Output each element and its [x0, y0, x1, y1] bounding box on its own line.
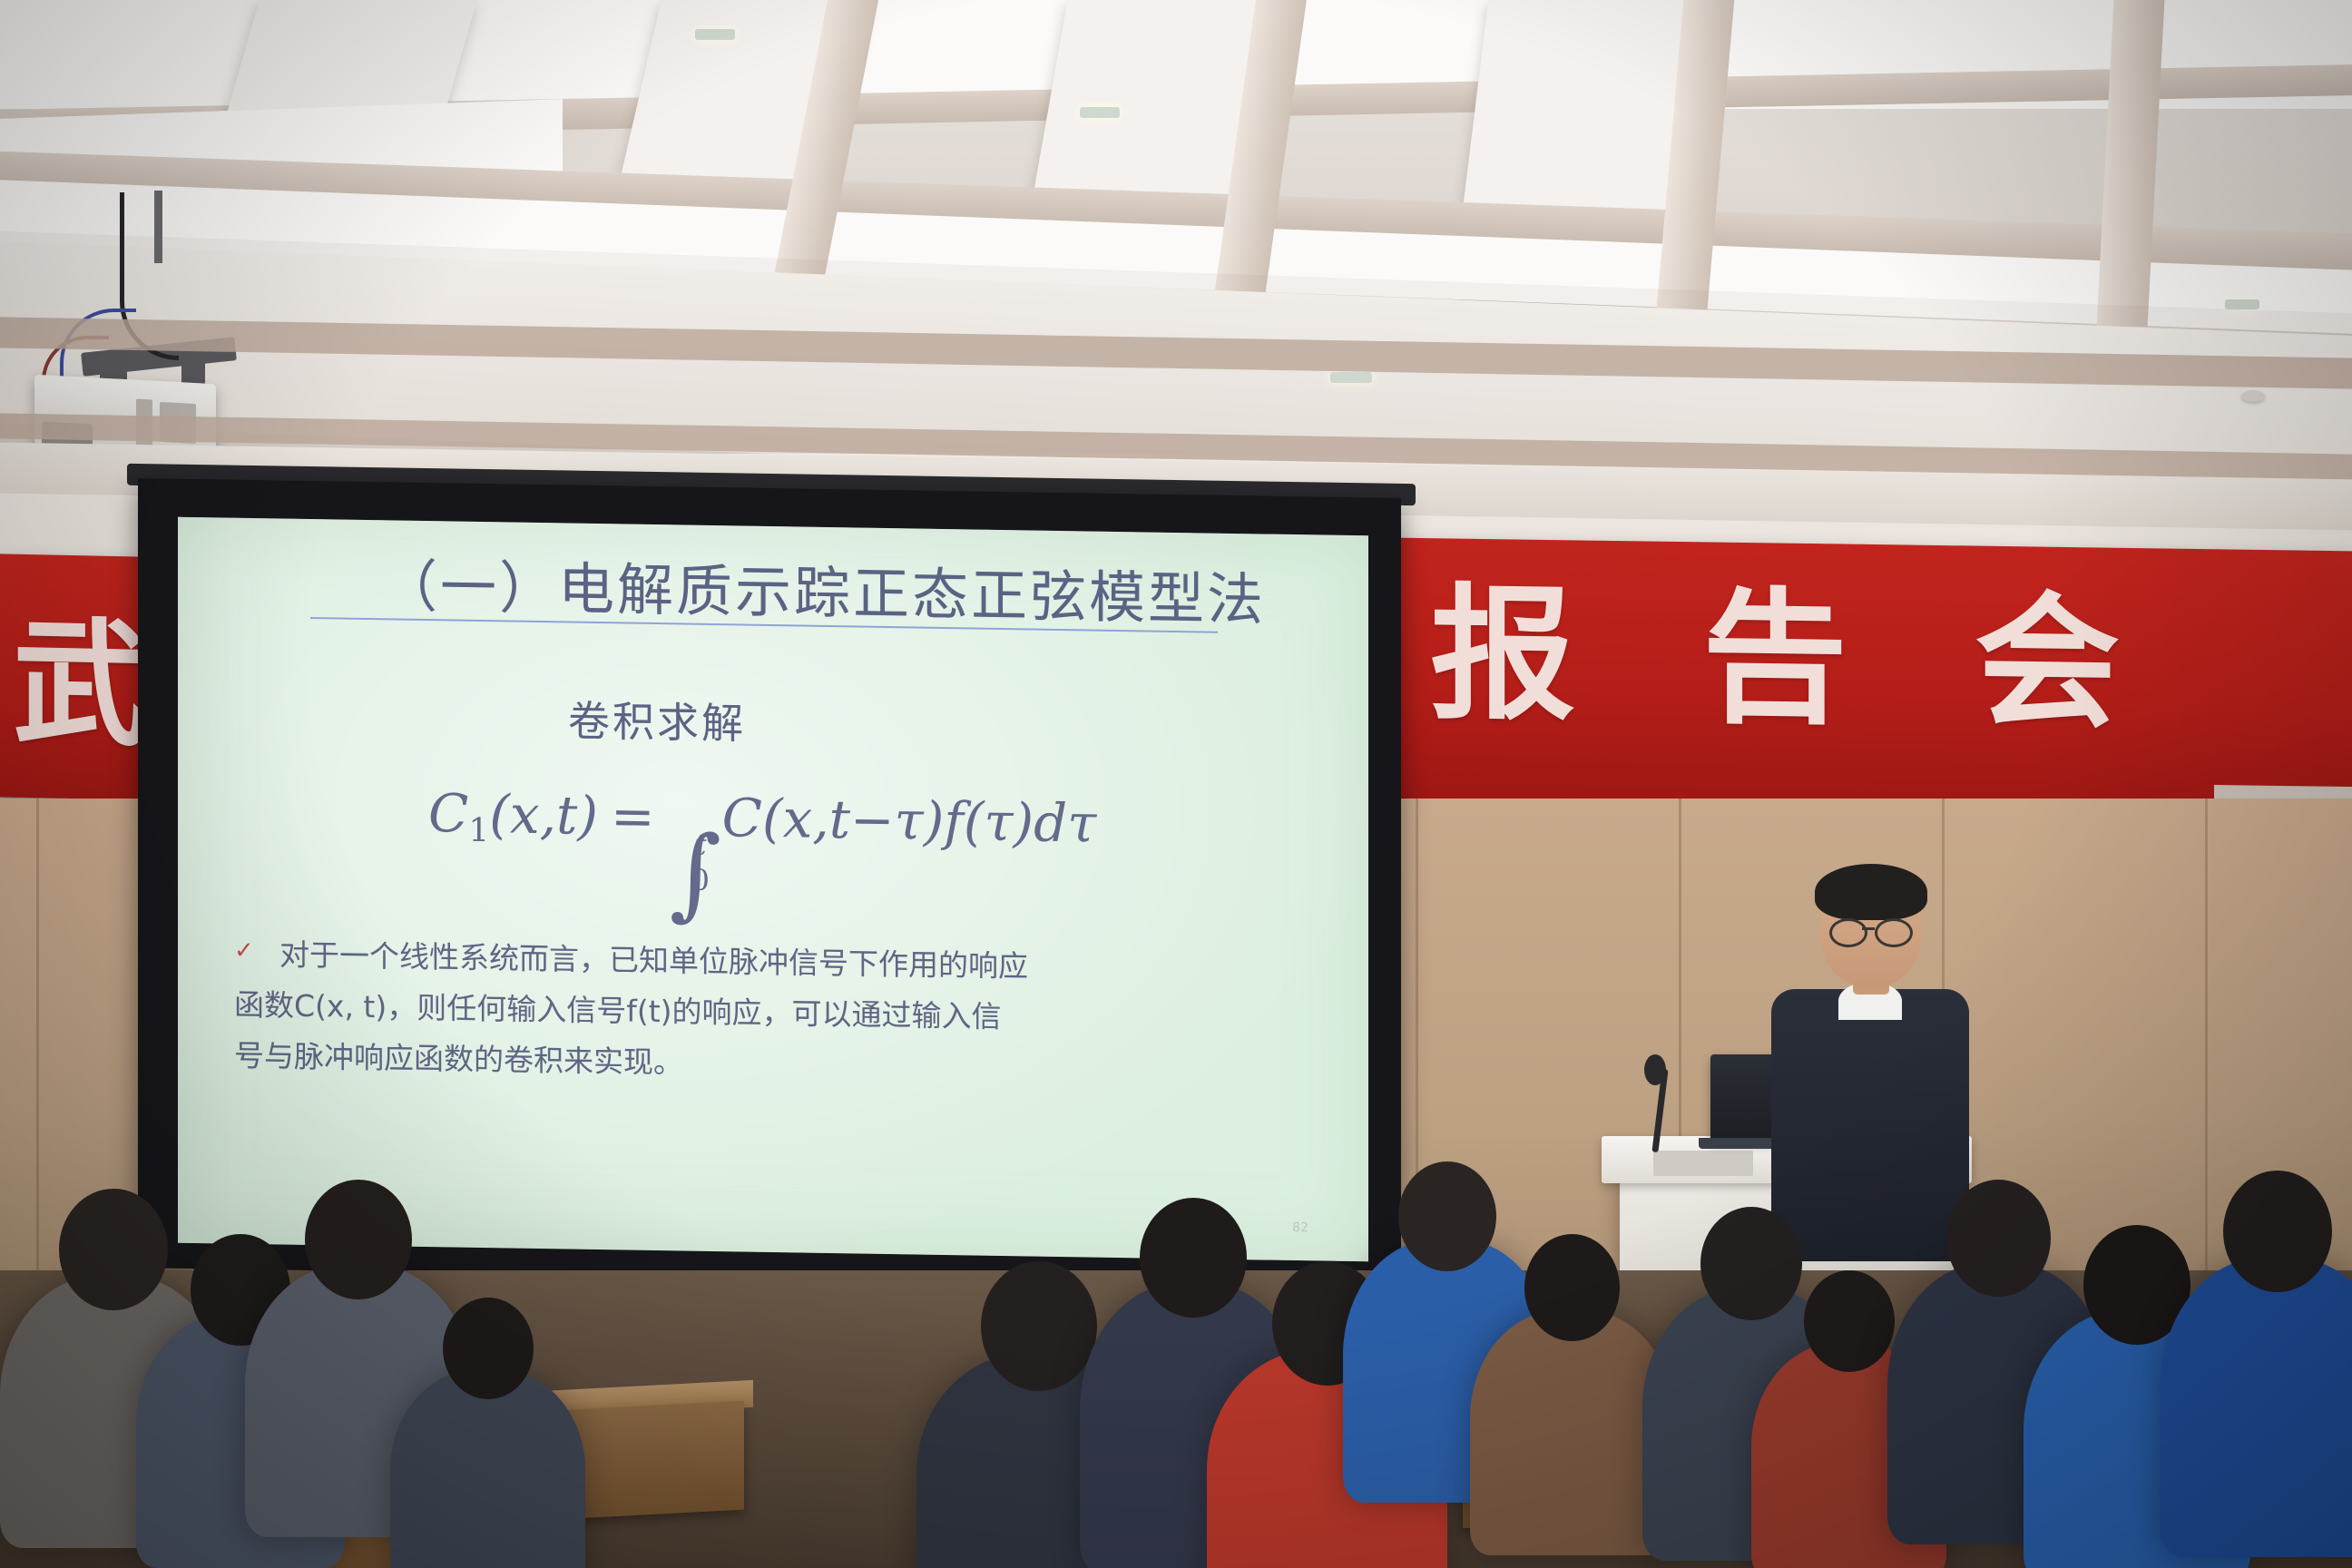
- formula-integral-group: ∫ t 0: [668, 845, 713, 846]
- banner-char-3: 会: [1975, 590, 2120, 737]
- audience-member-head: [305, 1180, 412, 1299]
- banner-left: 武: [0, 554, 145, 799]
- integral-upper-limit: t: [695, 827, 707, 861]
- smoke-detector: [2241, 390, 2265, 402]
- downlight-4: [2225, 299, 2259, 309]
- banner-right: 报 告 会: [1397, 538, 2352, 815]
- downlight-1: [695, 29, 735, 40]
- audience-member-head: [1700, 1207, 1802, 1320]
- panel-seam-left-1: [36, 799, 39, 1270]
- banner-char-1: 报: [1430, 582, 1575, 729]
- formula-equals: =: [598, 785, 668, 848]
- presenter-glasses-right: [1875, 918, 1913, 947]
- audience-member-head: [1140, 1198, 1247, 1318]
- slide-subtitle: 卷积求解: [568, 688, 746, 750]
- audience-member-body: [390, 1370, 585, 1568]
- microphone-head: [1644, 1054, 1666, 1085]
- presentation-slide: （一）电解质示踪正态正弦模型法 卷积求解 C1(x,t)= ∫ t 0 C(x,…: [178, 517, 1368, 1262]
- presenter-glasses-bridge: [1862, 927, 1875, 930]
- formula-lhs-args: (x,t): [489, 783, 598, 847]
- slide-page-number: 82: [1292, 1220, 1308, 1235]
- audience-member-head: [59, 1189, 168, 1310]
- formula-lhs: C: [428, 782, 468, 845]
- audience-member-body: [2160, 1258, 2352, 1557]
- banner-char-2: 告: [1702, 585, 1847, 732]
- downlight-2: [1080, 107, 1120, 118]
- downlight-3: [1330, 372, 1372, 383]
- audience-member-head: [981, 1261, 1097, 1391]
- podium-control-panel-left: [1653, 1151, 1753, 1176]
- audience-member-head: [1946, 1180, 2051, 1297]
- formula-lhs-subscript: 1: [468, 812, 489, 849]
- lecture-hall-photo: 武 报 告 会 （一）电解质示踪正态正弦模型法 卷积求解 C1(x,t)= ∫ …: [0, 0, 2352, 1568]
- presenter-hair: [1815, 864, 1927, 920]
- presenter-at-podium: [1771, 989, 1969, 1261]
- panel-seam-4: [2205, 799, 2208, 1307]
- integral-lower-limit: 0: [691, 862, 710, 897]
- formula-integrand: C(x,t−τ)f(τ)dτ: [713, 787, 1097, 855]
- audience-member-head: [1804, 1270, 1895, 1372]
- banner-left-char: 武: [13, 616, 149, 755]
- audience-member-head: [443, 1298, 534, 1399]
- audience-member-head: [2223, 1171, 2332, 1292]
- check-mark-icon: ✓: [234, 937, 254, 965]
- audience-member-head: [1398, 1161, 1496, 1271]
- slide-formula: C1(x,t)= ∫ t 0 C(x,t−τ)f(τ)dτ: [428, 782, 1096, 859]
- presenter-glasses-left: [1829, 918, 1867, 947]
- audience-member-head: [1524, 1234, 1620, 1341]
